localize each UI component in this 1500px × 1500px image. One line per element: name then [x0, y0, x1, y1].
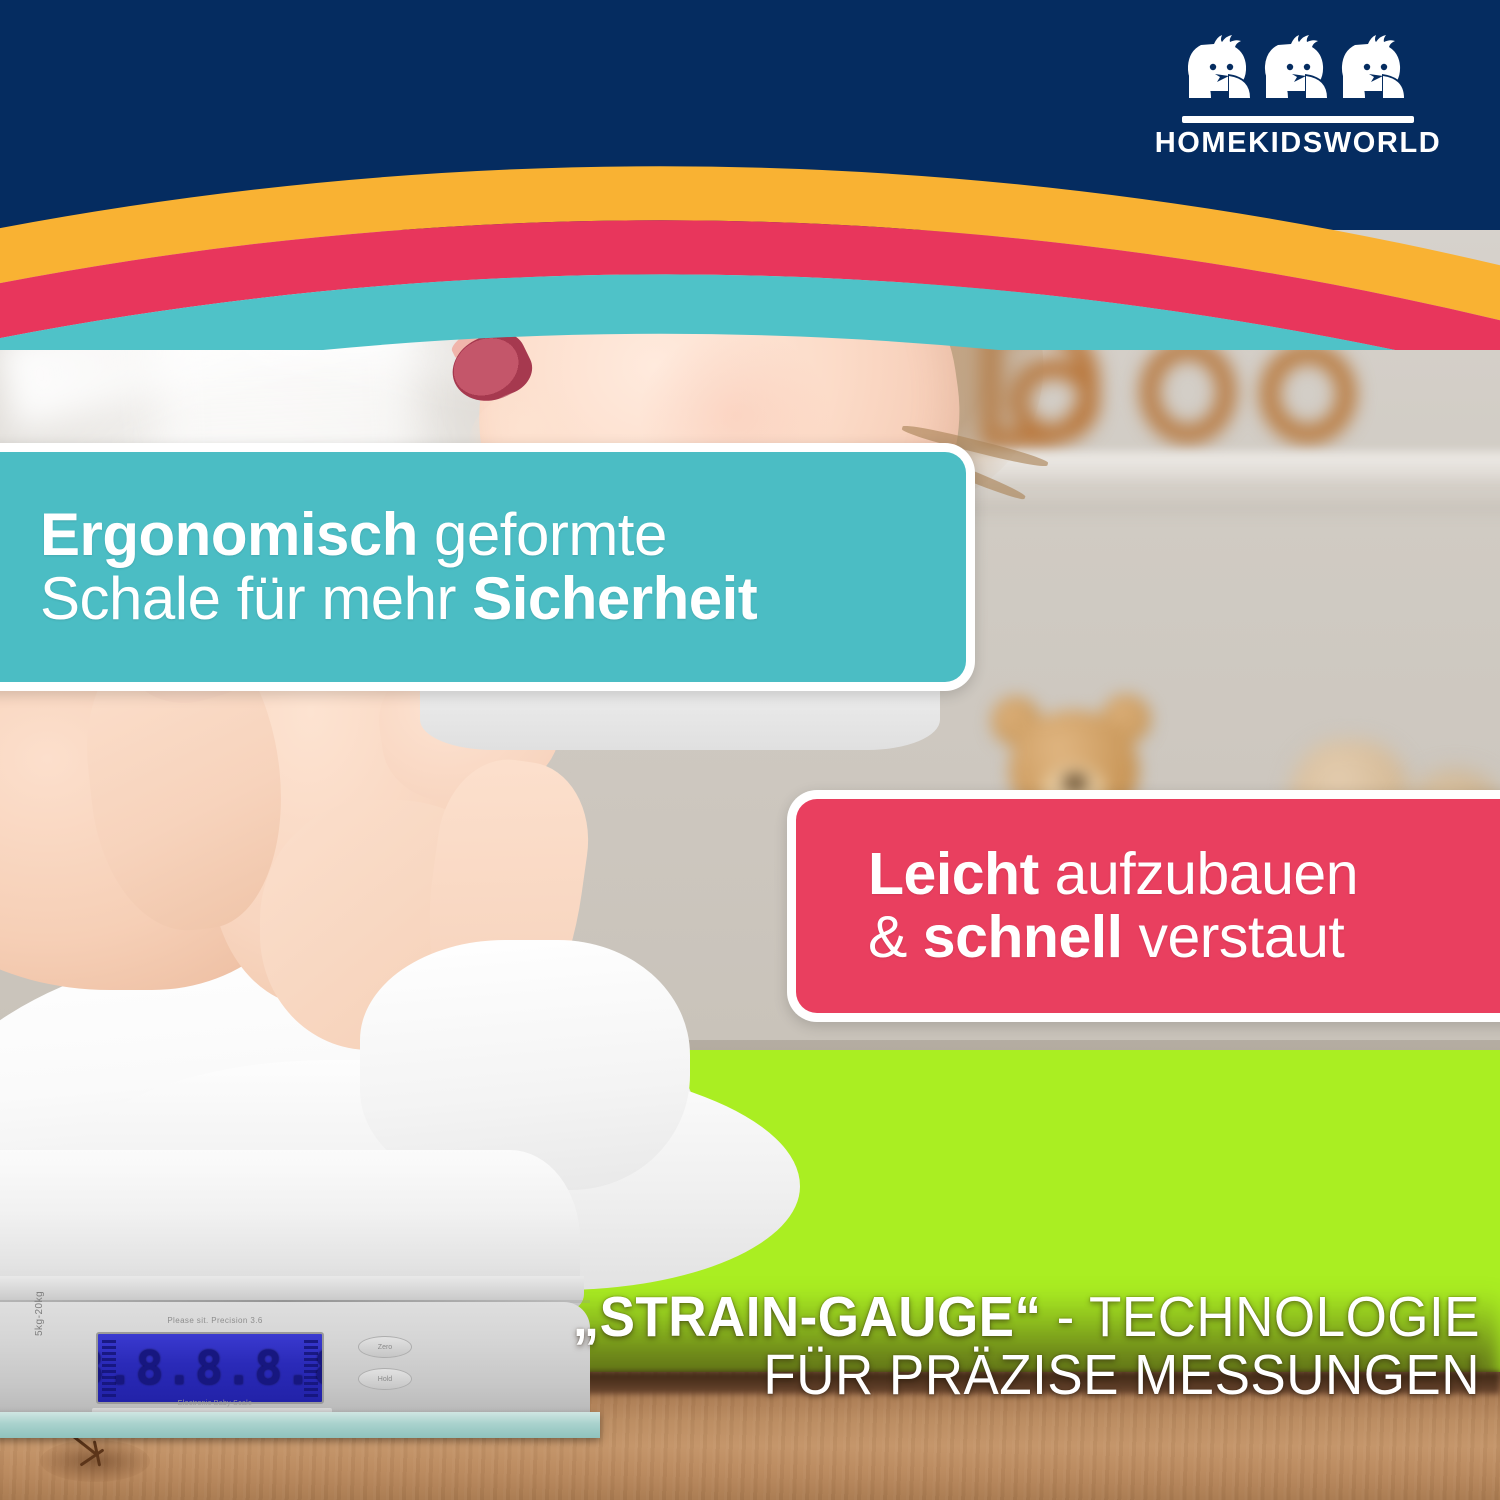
rainbow-svg [0, 120, 1500, 350]
callout-ergonomic-bold2: Sicherheit [472, 565, 757, 632]
rainbow-arc [0, 120, 1500, 350]
scale-lcd-display: 8.8.8.8.8 [96, 1332, 324, 1404]
product-marketing-image: Please sit. Precision 3.6 8.8.8.8.8 Elec… [0, 0, 1500, 1500]
callout-easy-setup-rest1: aufzubauen [1039, 841, 1358, 907]
callout-ergonomic-bold1: Ergonomisch [40, 501, 418, 568]
scale-side-label: 5kg-20kg [34, 1276, 48, 1336]
callout-ergonomic-rest2: Schale für mehr [40, 565, 472, 632]
callout-ergonomic-line2: Schale für mehr Sicherheit [40, 567, 936, 631]
callout-easy-setup-pre2: & [868, 904, 923, 970]
callout-easy-setup-line1: Leicht aufzubauen [868, 843, 1500, 906]
chicks-svg [1182, 30, 1414, 110]
technology-caption-line1: „STRAIN-GAUGE“ - TECHNOLOGIE [457, 1288, 1480, 1346]
callout-ergonomic-line1: Ergonomisch geformte [40, 503, 936, 567]
callout-easy-setup-line2: & schnell verstaut [868, 906, 1500, 969]
callout-ergonomic: Ergonomisch geformte Schale für mehr Sic… [0, 443, 975, 691]
lcd-value: 8.8.8.8.8 [118, 1342, 302, 1394]
callout-ergonomic-rest1: geformte [418, 501, 667, 568]
callout-easy-setup-bold2: schnell [923, 904, 1123, 970]
callout-easy-setup: Leicht aufzubauen & schnell verstaut [787, 790, 1500, 1022]
panel-micro-text-bottom: Electronic Baby Scale [130, 1400, 300, 1407]
callout-easy-setup-bold1: Leicht [868, 841, 1039, 907]
technology-caption: „STRAIN-GAUGE“ - TECHNOLOGIE FÜR PRÄZISE… [380, 1288, 1480, 1404]
scale-glass-base [0, 1412, 600, 1438]
panel-micro-text-top: Please sit. Precision 3.6 [130, 1316, 300, 1325]
technology-caption-rest: - TECHNOLOGIE [1041, 1285, 1480, 1349]
three-chicks-icon [1182, 36, 1414, 110]
technology-caption-line2: FÜR PRÄZISE MESSUNGEN [457, 1346, 1480, 1404]
technology-caption-bold: „STRAIN-GAUGE“ [573, 1285, 1042, 1349]
callout-easy-setup-rest2: verstaut [1123, 904, 1345, 970]
